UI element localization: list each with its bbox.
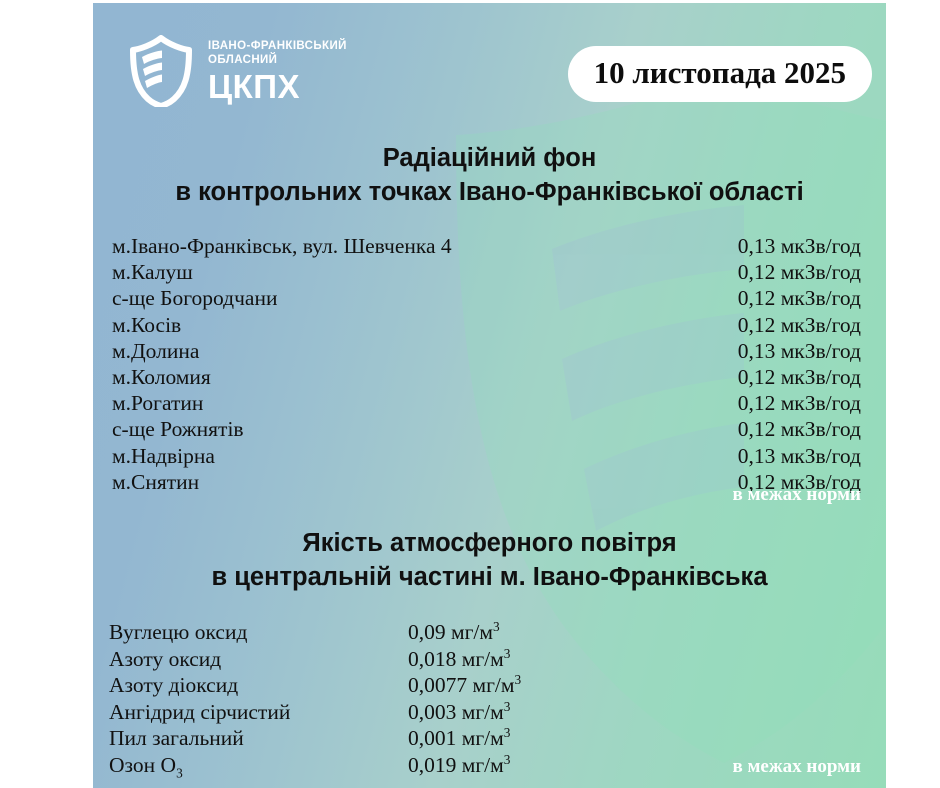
table-row: м.Коломия0,12 мкЗв/год [93,365,886,391]
pollutant-unit-exponent: 3 [504,698,511,713]
measurement-value: 0,12 мкЗв/год [738,365,861,390]
measurement-location: м.Рогатин [112,391,203,416]
pollutant-formula-subscript: 3 [176,765,183,780]
table-row: м.Надвірна0,13 мкЗв/год [93,444,886,470]
table-row: м.Долина0,13 мкЗв/год [93,339,886,365]
pollutant-name: Азоту оксид [109,647,221,672]
pollutant-number: 0,003 [408,700,456,724]
pollutant-name: Азоту діоксид [109,673,238,698]
table-row: Вуглецю оксид0,09 мг/м3 [93,620,886,647]
pollutant-value: 0,0077 мг/м3 [408,673,521,698]
pollutant-unit: мг/м [451,620,493,644]
table-row: м.Калуш0,12 мкЗв/год [93,260,886,286]
pollutant-name-text: Озон О [109,753,176,777]
pollutant-value: 0,003 мг/м3 [408,700,510,725]
pollutant-number: 0,001 [408,726,456,750]
air-quality-section-title: Якість атмосферного повітря в центральні… [93,526,886,594]
measurement-value: 0,12 мкЗв/год [738,286,861,311]
pollutant-value: 0,001 мг/м3 [408,726,510,751]
measurement-location: с-ще Богородчани [112,286,278,311]
measurement-value: 0,13 мкЗв/год [738,444,861,469]
pollutant-unit-exponent: 3 [515,672,522,687]
pollutant-unit: мг/м [462,726,504,750]
measurement-value: 0,12 мкЗв/год [738,391,861,416]
air-title-line-1: Якість атмосферного повітря [93,526,886,560]
table-row: м.Косів0,12 мкЗв/год [93,313,886,339]
pollutant-unit-exponent: 3 [504,725,511,740]
pollutant-unit-exponent: 3 [493,619,500,634]
table-row: м.Рогатин0,12 мкЗв/год [93,391,886,417]
measurement-location: м.Долина [112,339,199,364]
pollutant-value: 0,09 мг/м3 [408,620,500,645]
measurement-location: м.Снятин [112,470,199,495]
measurement-location: м.Коломия [112,365,211,390]
measurement-value: 0,13 мкЗв/год [738,234,861,259]
table-row: м.Івано-Франківськ, вул. Шевченка 40,13 … [93,234,886,260]
table-row: Азоту оксид0,018 мг/м3 [93,647,886,674]
poster-canvas: ІВАНО-ФРАНКІВСЬКИЙ ОБЛАСНИЙ ЦКПХ 10 лист… [93,3,886,788]
pollutant-number: 0,09 [408,620,446,644]
brand-line-2: ОБЛАСНИЙ [208,54,347,68]
brand-abbreviation: ЦКПХ [208,69,347,104]
air-title-line-2: в центральній частині м. Івано-Франківсь… [93,560,886,594]
pollutant-unit: мг/м [462,647,504,671]
measurement-location: м.Косів [112,313,181,338]
pollutant-unit-exponent: 3 [504,645,511,660]
pollutant-number: 0,0077 [408,673,467,697]
pollutant-value: 0,018 мг/м3 [408,647,510,672]
pollutant-value: 0,019 мг/м3 [408,753,510,778]
table-row: с-ще Рожнятів0,12 мкЗв/год [93,417,886,443]
shield-logo-icon [128,35,194,107]
measurement-location: м.Надвірна [112,444,215,469]
brand-logo: ІВАНО-ФРАНКІВСЬКИЙ ОБЛАСНИЙ ЦКПХ [128,35,347,107]
table-row: Азоту діоксид0,0077 мг/м3 [93,673,886,700]
measurement-value: 0,12 мкЗв/год [738,313,861,338]
pollutant-unit: мг/м [462,700,504,724]
measurement-value: 0,12 мкЗв/год [738,260,861,285]
table-row: Пил загальний0,001 мг/м3 [93,726,886,753]
measurement-location: м.Івано-Франківськ, вул. Шевченка 4 [112,234,452,259]
pollutant-number: 0,018 [408,647,456,671]
table-row: с-ще Богородчани0,12 мкЗв/год [93,286,886,312]
date-badge: 10 листопада 2025 [568,46,872,102]
measurement-value: 0,12 мкЗв/год [738,417,861,442]
radiation-measurement-list: м.Івано-Франківськ, вул. Шевченка 40,13 … [93,234,886,496]
table-row: Ангідрид сірчистий0,003 мг/м3 [93,700,886,727]
pollutant-unit: мг/м [462,753,504,777]
radiation-status-note: в межах норми [732,484,861,506]
measurement-location: с-ще Рожнятів [112,417,244,442]
pollutant-name: Озон О3 [109,753,183,778]
measurement-value: 0,13 мкЗв/год [738,339,861,364]
pollutant-unit: мг/м [473,673,515,697]
pollutant-name: Ангідрид сірчистий [109,700,290,725]
air-quality-status-note: в межах норми [732,756,861,778]
measurement-location: м.Калуш [112,260,193,285]
radiation-title-line-2: в контрольних точках Івано-Франківської … [93,175,886,209]
pollutant-name: Вуглецю оксид [109,620,247,645]
pollutant-unit-exponent: 3 [504,751,511,766]
brand-line-1: ІВАНО-ФРАНКІВСЬКИЙ [208,40,347,54]
radiation-title-line-1: Радіаційний фон [93,141,886,175]
pollutant-name: Пил загальний [109,726,244,751]
pollutant-number: 0,019 [408,753,456,777]
radiation-section-title: Радіаційний фон в контрольних точках Іва… [93,141,886,209]
